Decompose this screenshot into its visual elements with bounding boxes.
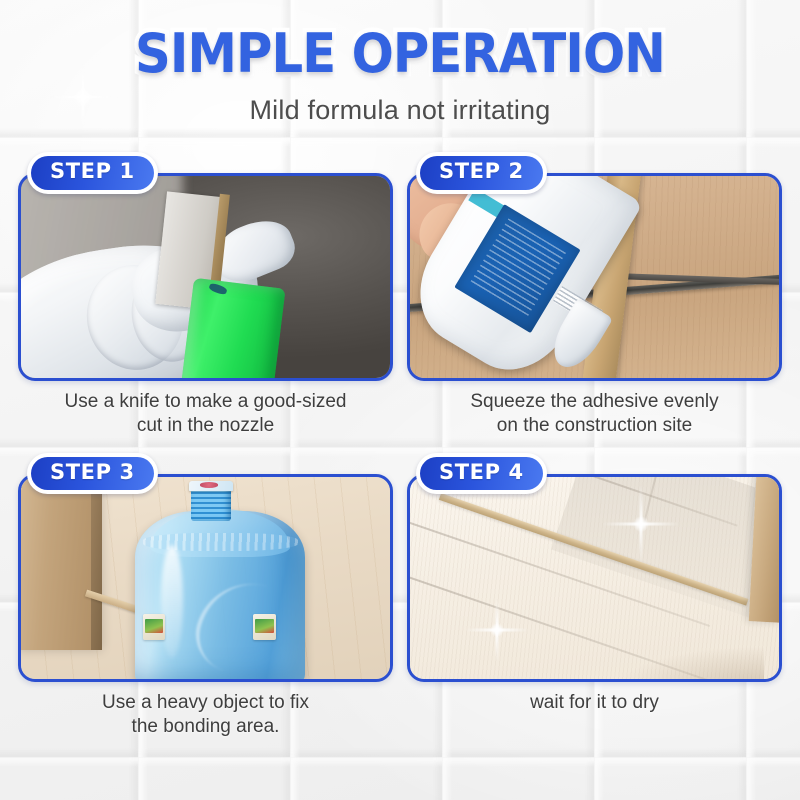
step-photo-frame-4 bbox=[407, 474, 782, 682]
photo3-jug-label-left bbox=[143, 614, 165, 640]
step-photo-3 bbox=[21, 477, 390, 679]
step-photo-4 bbox=[410, 477, 779, 679]
step-photo-2 bbox=[410, 176, 779, 378]
steps-grid: STEP 1 Use a knife to make a good-sized … bbox=[0, 152, 800, 739]
step-caption-3: Use a heavy object to fix the bonding ar… bbox=[18, 691, 393, 740]
step-badge-label-4: STEP 4 bbox=[420, 457, 543, 491]
photo4-corner-shadow bbox=[617, 646, 765, 678]
photo3-jug-cap-seal bbox=[200, 482, 218, 487]
step-photo-1 bbox=[21, 176, 390, 378]
step-badge-1: STEP 1 bbox=[27, 152, 158, 194]
step-card-2: STEP 2 Squeeze the adhesive evenly on th… bbox=[407, 152, 782, 439]
step-badge-4: STEP 4 bbox=[416, 453, 547, 495]
photo3-jug-embossed-band bbox=[143, 533, 298, 551]
step-photo-frame-1 bbox=[18, 173, 393, 381]
step-caption-4: wait for it to dry bbox=[407, 691, 782, 715]
step-caption-line1-3: Use a heavy object to fix bbox=[18, 691, 393, 715]
step-photo-frame-2 bbox=[407, 173, 782, 381]
step-caption-line2-2: on the construction site bbox=[407, 414, 782, 438]
step-card-1: STEP 1 Use a knife to make a good-sized … bbox=[18, 152, 393, 439]
step-badge-3: STEP 3 bbox=[27, 453, 158, 495]
step-badge-label-3: STEP 3 bbox=[31, 457, 154, 491]
step-caption-line1-4: wait for it to dry bbox=[407, 691, 782, 715]
page-subtitle: Mild formula not irritating bbox=[0, 95, 800, 126]
step-card-3: STEP 3 Use a heavy object to fix the bon… bbox=[18, 453, 393, 740]
step-caption-line2-1: cut in the nozzle bbox=[18, 414, 393, 438]
step-caption-1: Use a knife to make a good-sized cut in … bbox=[18, 390, 393, 439]
step-card-4: STEP 4 wait for it to dry bbox=[407, 453, 782, 740]
photo3-door-frame bbox=[91, 477, 102, 651]
photo3-jug-label-right bbox=[253, 614, 275, 640]
step-badge-label-1: STEP 1 bbox=[31, 156, 154, 190]
step-badge-2: STEP 2 bbox=[416, 152, 547, 194]
step-photo-frame-3 bbox=[18, 474, 393, 682]
step-caption-line2-3: the bonding area. bbox=[18, 715, 393, 739]
step-caption-2: Squeeze the adhesive evenly on the const… bbox=[407, 390, 782, 439]
photo3-door-panel bbox=[21, 477, 98, 651]
header: SIMPLE OPERATION Mild formula not irrita… bbox=[0, 0, 800, 126]
step-caption-line1-2: Squeeze the adhesive evenly bbox=[407, 390, 782, 414]
step-caption-line1-1: Use a knife to make a good-sized bbox=[18, 390, 393, 414]
page-title: SIMPLE OPERATION bbox=[32, 27, 768, 81]
step-badge-label-2: STEP 2 bbox=[420, 156, 543, 190]
photo1-knife-handle bbox=[180, 278, 285, 378]
photo3-jug-neck bbox=[191, 487, 232, 521]
